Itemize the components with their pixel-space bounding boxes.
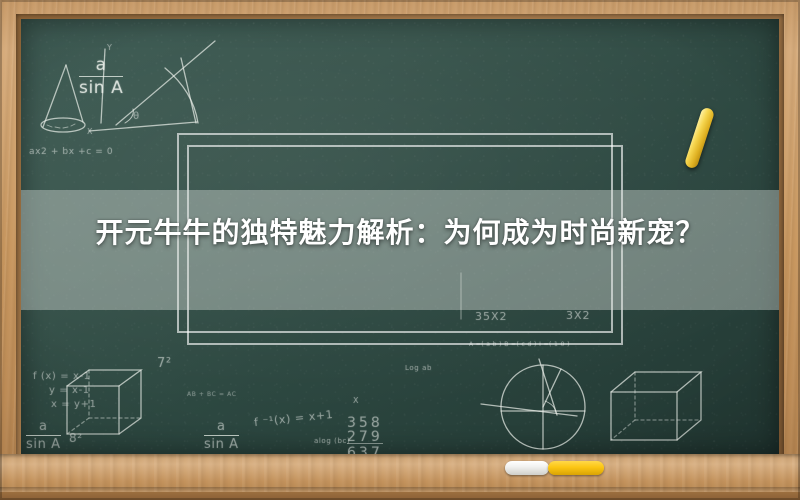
white-chalk-icon	[505, 461, 549, 475]
chalk-axis-x-label: X	[87, 127, 93, 137]
cube-diagram-left	[67, 370, 141, 434]
chalk-alog-bc: alog (bc)	[314, 437, 350, 446]
yellow-chalk-icon	[548, 461, 604, 475]
cube-diagram-right	[611, 372, 701, 440]
yellow-chalk-on-board-icon	[684, 107, 716, 170]
angle-diagram	[89, 41, 215, 131]
chalk-function-line-3: x = y+1	[51, 399, 97, 412]
chalk-seven-squared: 7²	[157, 356, 172, 372]
chalk-vector-sum: AB + BC = AC	[187, 391, 237, 399]
chalk-quadratic-equation: ax2 + bx +c = 0	[29, 147, 113, 158]
chalk-subtraction-subtrahend: 279	[347, 429, 383, 447]
chalk-subtraction-result: 637	[347, 443, 383, 454]
chalk-law-of-sines-bottom-left: a sin A	[26, 419, 61, 454]
chalk-eight-squared: 8²	[69, 431, 83, 446]
chalk-inverse-function: f ⁻¹(x) = x+1	[253, 408, 333, 430]
circle-radius-diagram	[481, 359, 585, 449]
chalk-function-line-1: f (x) = x-1	[33, 371, 91, 384]
ledge-bottom-shadow	[0, 492, 800, 500]
chalk-ledge	[0, 454, 800, 500]
chalk-mult-3x2: 3X2	[566, 309, 591, 323]
page-title: 开元牛牛的独特魅力解析：为何成为时尚新宠？	[0, 171, 800, 291]
cone-diagram	[41, 65, 85, 132]
blackboard-banner: a sin A Y X θ ax2 + bx +c = 0 f (x) = x-…	[0, 0, 800, 500]
chalk-law-of-sines-bottom-mid: a sin A	[204, 419, 239, 454]
chalk-x-label-small: X	[353, 396, 359, 406]
chalk-angle-theta: θ	[133, 111, 140, 124]
chalk-mult-35x2: 35X2	[475, 310, 508, 324]
chalk-matrix-notes: A =( a b ) B =( c d ) I =( 1 0 )	[469, 341, 570, 349]
chalk-function-line-2: y = x-1	[49, 385, 90, 398]
chalk-law-of-sines-top: a sin A	[79, 55, 123, 100]
chalk-log-ab: Log ab	[405, 364, 432, 373]
chalk-subtraction-minuend: 358	[347, 415, 383, 433]
chalk-axis-y-label: Y	[107, 43, 113, 53]
